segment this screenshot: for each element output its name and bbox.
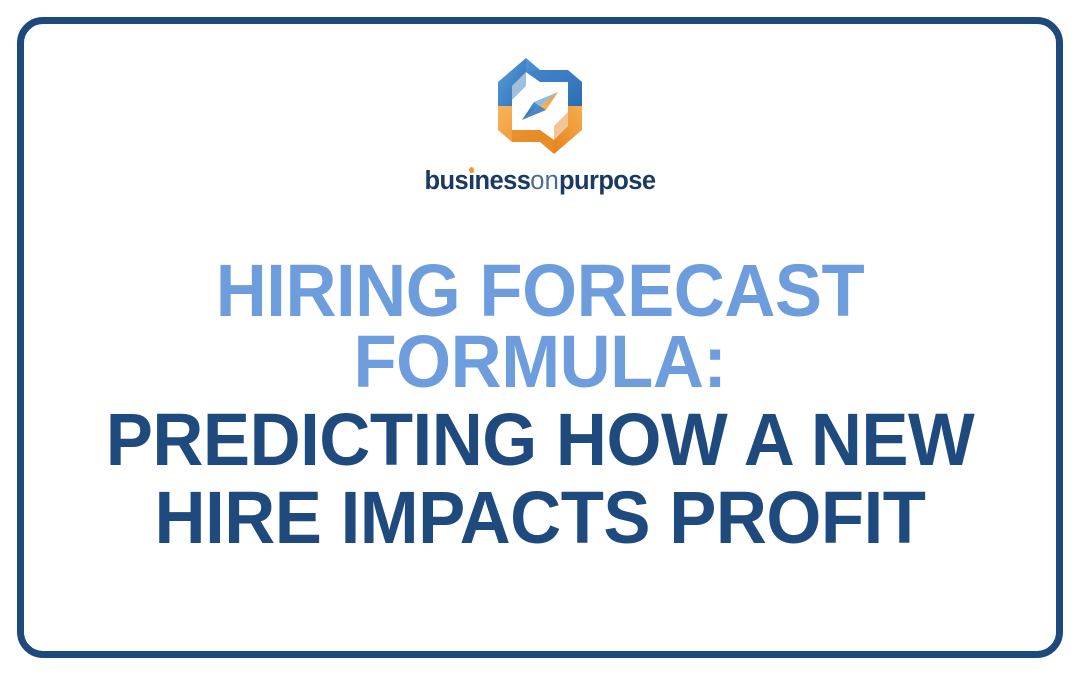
headline-line-4: HIRE IMPACTS PROFIT — [63, 482, 1018, 554]
wordmark-part-business: business — [425, 167, 531, 195]
brand-wordmark: businessonpurpose — [425, 169, 656, 195]
wordmark-part-purpose: purpose — [559, 167, 655, 195]
business-on-purpose-hexagon-compass-logo-icon — [484, 52, 596, 160]
slide-headline: HIRING FORECAST FORMULA: PREDICTING HOW … — [63, 255, 1018, 554]
wordmark-orange-dot-icon — [469, 167, 474, 173]
headline-line-2: FORMULA: — [63, 326, 1018, 398]
wordmark-part-on: on — [530, 167, 559, 195]
brand-logo: businessonpurpose — [425, 52, 656, 195]
headline-line-1: HIRING FORECAST — [63, 255, 1018, 327]
slide-content: businessonpurpose HIRING FORECAST FORMUL… — [0, 0, 1080, 675]
headline-line-3: PREDICTING HOW A NEW — [63, 404, 1018, 476]
slide-canvas: businessonpurpose HIRING FORECAST FORMUL… — [0, 0, 1080, 675]
